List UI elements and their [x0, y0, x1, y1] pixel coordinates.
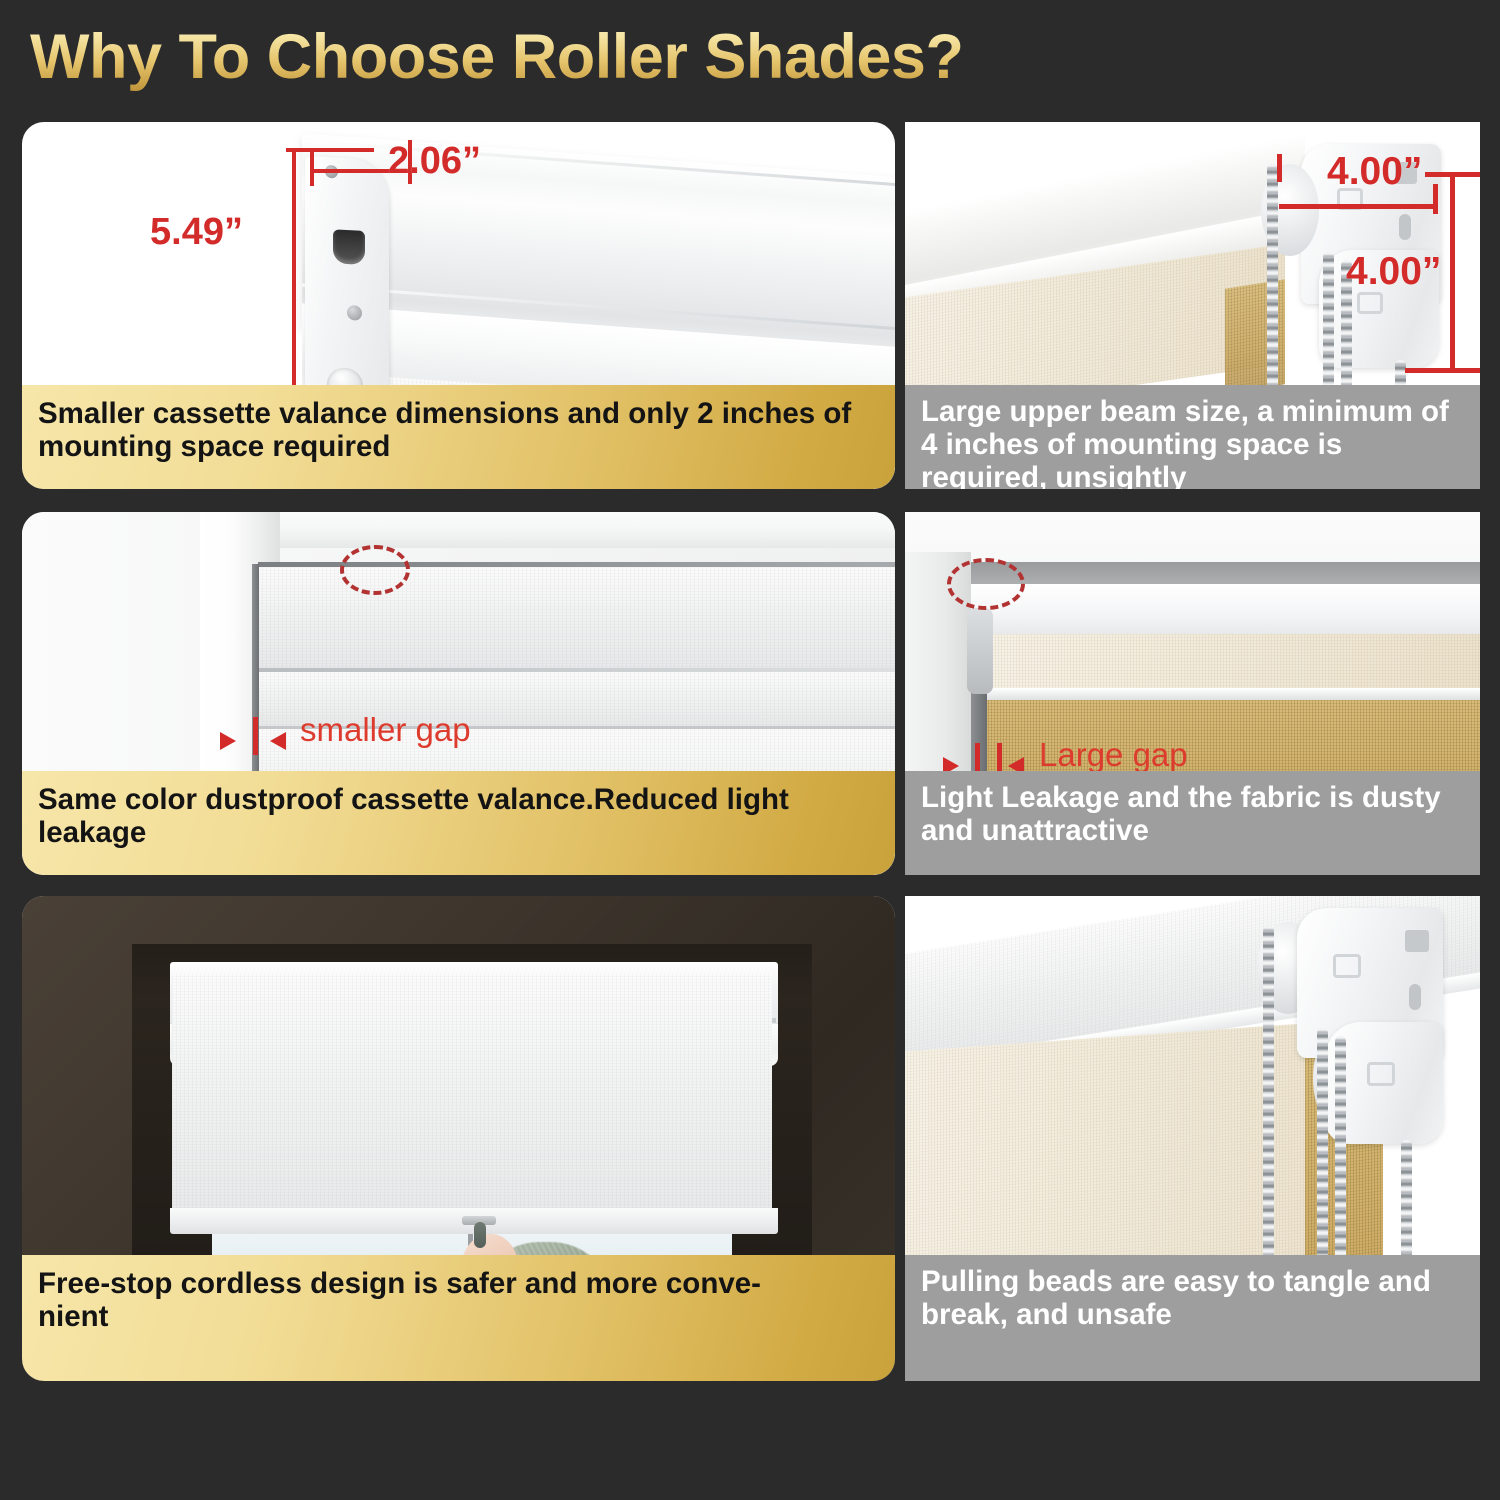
bracket-icon-a [1333, 954, 1361, 978]
cream-band [971, 634, 1480, 692]
caption-pro-cordless: Free-stop cordless design is safer and m… [22, 1255, 895, 1381]
panel-con-beam: 4.00” 4.00” Large upper beam size, a min… [905, 122, 1480, 489]
bracket-icon-b [1367, 1062, 1395, 1086]
infographic-root: Why To Choose Roller Shades? 2.06” [0, 0, 1500, 1500]
caption-pro-cassette: Smaller cassette valance dimensions and … [22, 385, 895, 489]
dim-height-label: 5.49” [150, 211, 243, 254]
highlight-ellipse-large [947, 558, 1025, 610]
head-rail [971, 584, 1480, 640]
fingertip [474, 1222, 486, 1248]
bead-chain-left [1267, 164, 1278, 414]
page-title: Why To Choose Roller Shades? [30, 18, 1130, 96]
dim-beam-height-line [1450, 172, 1455, 372]
cream-band-edge [971, 688, 1480, 700]
panel-con-beads: Pulling beads are easy to tangle and bre… [905, 896, 1480, 1381]
gap-label-smaller: smaller gap [300, 711, 471, 749]
panel-pro-cordless: Free-stop cordless design is safer and m… [22, 896, 895, 1381]
caption-con-gap: Light Leakage and the fabric is dusty an… [905, 771, 1480, 875]
cord-slot [333, 229, 365, 265]
caption-line-1: Free-stop cordless design is safer and m… [38, 1267, 761, 1300]
bracket-slot-2 [1399, 214, 1411, 240]
dim-beam-height-tick-bottom [1405, 368, 1480, 373]
dim-beam-width-line [1279, 204, 1437, 209]
caption-con-beads: Pulling beads are easy to tangle and bre… [905, 1255, 1480, 1381]
dim-height-tick-top [286, 148, 374, 152]
dim-beam-width-tick-left [1277, 154, 1282, 182]
dim-beam-height-label: 4.00” [1346, 250, 1441, 294]
bracket-notch-2 [1409, 984, 1421, 1010]
dim-width-label: 2.06” [388, 140, 481, 183]
bracket-icon-2 [1357, 292, 1383, 314]
panel-con-gap: Large gap Light Leakage and the fabric i… [905, 512, 1480, 875]
highlight-ellipse [340, 545, 410, 595]
caption-con-beam: Large upper beam size, a minimum of 4 in… [905, 385, 1480, 489]
gap-label-large: Large gap [1039, 736, 1188, 774]
dim-beam-height-tick-top [1425, 172, 1480, 177]
gap-arrow-right [270, 732, 286, 750]
gap-arrow-left [220, 732, 236, 750]
dim-beam-width-tick-right [1433, 184, 1438, 214]
caption-line-2: nient [38, 1300, 108, 1333]
caption-pro-gap: Same color dustproof cassette valance.Re… [22, 771, 895, 875]
dim-width-tick-left [310, 150, 314, 186]
bracket-notch-1 [1405, 930, 1429, 952]
roller-mechanism [967, 608, 993, 694]
window-frame-head [200, 512, 895, 548]
shade-panel [172, 974, 772, 1232]
dim-beam-width-label: 4.00” [1327, 150, 1422, 194]
panel-pro-gap: smaller gap Same color dustproof cassett… [22, 512, 895, 875]
panel-pro-cassette: 2.06” 5.49” Smaller cassette valance dim… [22, 122, 895, 489]
gap-tick [253, 717, 258, 755]
valance-end-cap [305, 156, 389, 418]
